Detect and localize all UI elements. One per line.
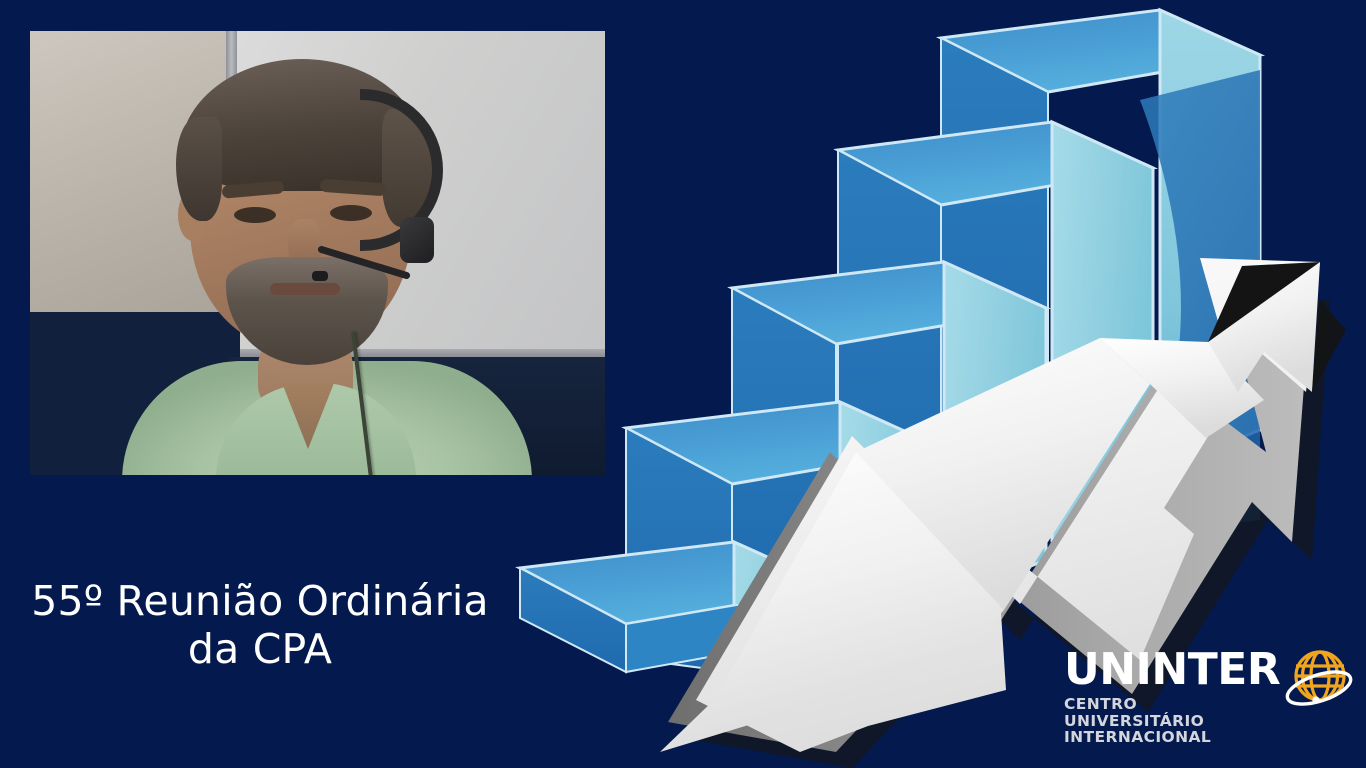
globe-grid-icon (1272, 644, 1358, 724)
page-title: 55º Reunião Ordinária da CPA (0, 578, 520, 673)
person-mouth (270, 283, 340, 295)
page-title-line2: da CPA (0, 626, 520, 674)
uninter-logo: UNINTER CENTRO UNIVERSITÁRIO INTERNACION… (1064, 648, 1354, 756)
headset-microphone (312, 271, 328, 281)
person-hair-left (176, 117, 222, 221)
uninter-subtitle-line3: INTERNACIONAL (1064, 729, 1354, 746)
page-title-line1: 55º Reunião Ordinária (0, 578, 520, 626)
headset-earcup (400, 217, 434, 263)
slide-canvas: 55º Reunião Ordinária da CPA UNINTER CEN… (0, 0, 1366, 768)
person-eye-left (234, 207, 276, 223)
